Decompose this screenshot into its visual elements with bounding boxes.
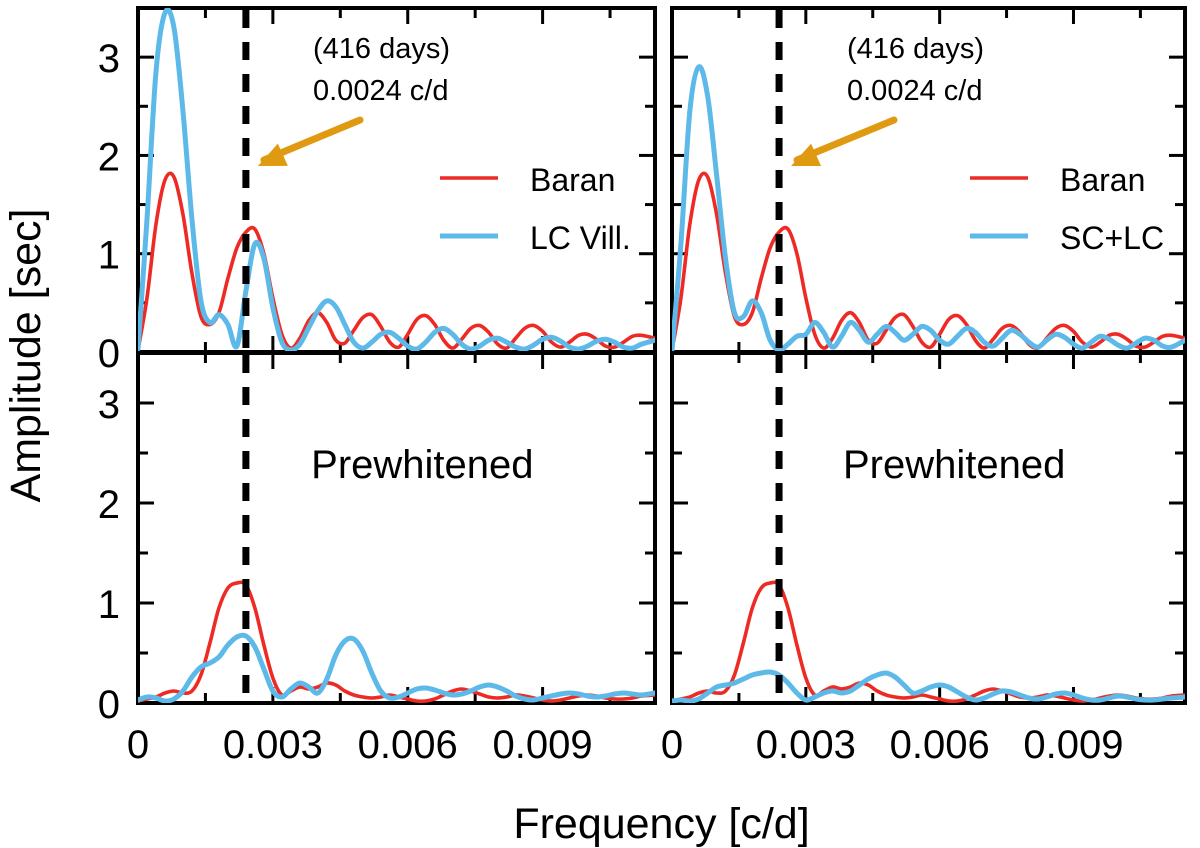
annotation-arrow bbox=[791, 120, 894, 166]
legend-label-baran: Baran bbox=[1060, 162, 1145, 198]
panel-top-right: (416 days)0.0024 c/dBaranSC+LC bbox=[672, 8, 1185, 352]
x-tick-label: 0 bbox=[661, 723, 683, 767]
panel-bottom-right: 00.0030.0060.009Prewhitened bbox=[661, 353, 1185, 767]
annotation-period: (416 days) bbox=[847, 33, 984, 65]
x-tick-label: 0.009 bbox=[1023, 723, 1123, 767]
x-tick-label: 0.009 bbox=[493, 723, 593, 767]
periodogram-svg: 0123(416 days)0.0024 c/dBaranLC Vill.(41… bbox=[0, 0, 1200, 848]
x-tick-label: 0.006 bbox=[890, 723, 990, 767]
series-group bbox=[672, 67, 1185, 350]
y-axis-title: Amplitude [sec] bbox=[2, 209, 50, 503]
x-tick-label: 0 bbox=[127, 723, 149, 767]
legend-top-left: BaranLC Vill. bbox=[440, 162, 631, 256]
series-line-baran bbox=[672, 173, 1185, 350]
x-tick-label: 0.003 bbox=[223, 723, 323, 767]
y-tick-label: 2 bbox=[98, 483, 120, 527]
x-tick-label: 0.006 bbox=[358, 723, 458, 767]
y-tick-label: 1 bbox=[98, 583, 120, 627]
series-line-sc-lc bbox=[672, 67, 1185, 350]
periodogram-figure: 0123(416 days)0.0024 c/dBaranLC Vill.(41… bbox=[0, 0, 1200, 848]
series-line-lc-vill- bbox=[138, 635, 655, 701]
series-line-baran bbox=[138, 582, 655, 701]
y-tick-label: 0 bbox=[98, 332, 120, 376]
annotation-arrow bbox=[258, 120, 360, 166]
y-tick-label: 2 bbox=[98, 135, 120, 179]
annotation-frequency: 0.0024 c/d bbox=[313, 75, 448, 107]
annotation-frequency: 0.0024 c/d bbox=[847, 75, 982, 107]
panel-top-left: 0123(416 days)0.0024 c/dBaranLC Vill. bbox=[98, 8, 655, 376]
series-group bbox=[138, 582, 655, 701]
series-group bbox=[672, 582, 1185, 701]
y-tick-label: 3 bbox=[98, 383, 120, 427]
y-tick-label: 1 bbox=[98, 234, 120, 278]
legend-label-baran: Baran bbox=[530, 162, 615, 198]
panel-frame bbox=[138, 353, 655, 703]
panel-note-bottom-right: Prewhitened bbox=[843, 443, 1065, 487]
y-tick-label: 3 bbox=[98, 37, 120, 81]
series-line-baran bbox=[138, 173, 655, 350]
y-tick-label: 0 bbox=[98, 683, 120, 727]
annotation-period: (416 days) bbox=[313, 33, 450, 65]
panel-note-bottom-left: Prewhitened bbox=[311, 443, 533, 487]
x-axis-title: Frequency [c/d] bbox=[513, 800, 809, 848]
x-tick-label: 0.003 bbox=[756, 723, 856, 767]
series-line-baran bbox=[672, 582, 1185, 701]
legend-top-right: BaranSC+LC bbox=[970, 162, 1164, 256]
panel-bottom-left: 00.0030.0060.0090123Prewhitened bbox=[98, 353, 655, 767]
panel-frame bbox=[672, 353, 1185, 703]
legend-label-lc-vill-: LC Vill. bbox=[530, 220, 631, 256]
legend-label-sc-lc: SC+LC bbox=[1060, 220, 1164, 256]
